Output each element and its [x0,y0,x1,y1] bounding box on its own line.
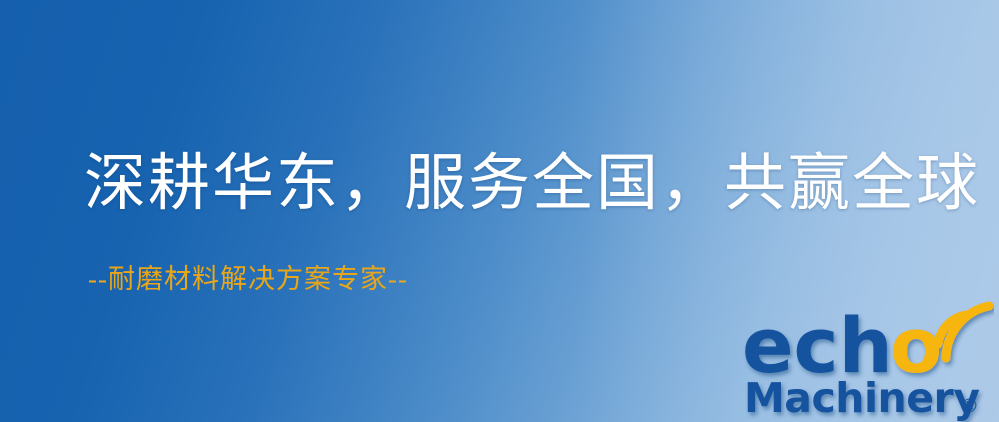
hero-banner: 深耕华东，服务全国，共赢全球 --耐磨材料解决方案专家-- ech o [0,0,999,422]
signal-waves-icon [938,306,989,358]
logo-wordmark-machinery: Machinery [744,374,979,422]
banner-subtitle: --耐磨材料解决方案专家-- [88,263,408,295]
company-logo[interactable]: ech o Machinery ® [742,296,994,422]
registered-trademark-icon: ® [960,395,979,417]
banner-headline: 深耕华东，服务全国，共赢全球 [84,150,980,218]
